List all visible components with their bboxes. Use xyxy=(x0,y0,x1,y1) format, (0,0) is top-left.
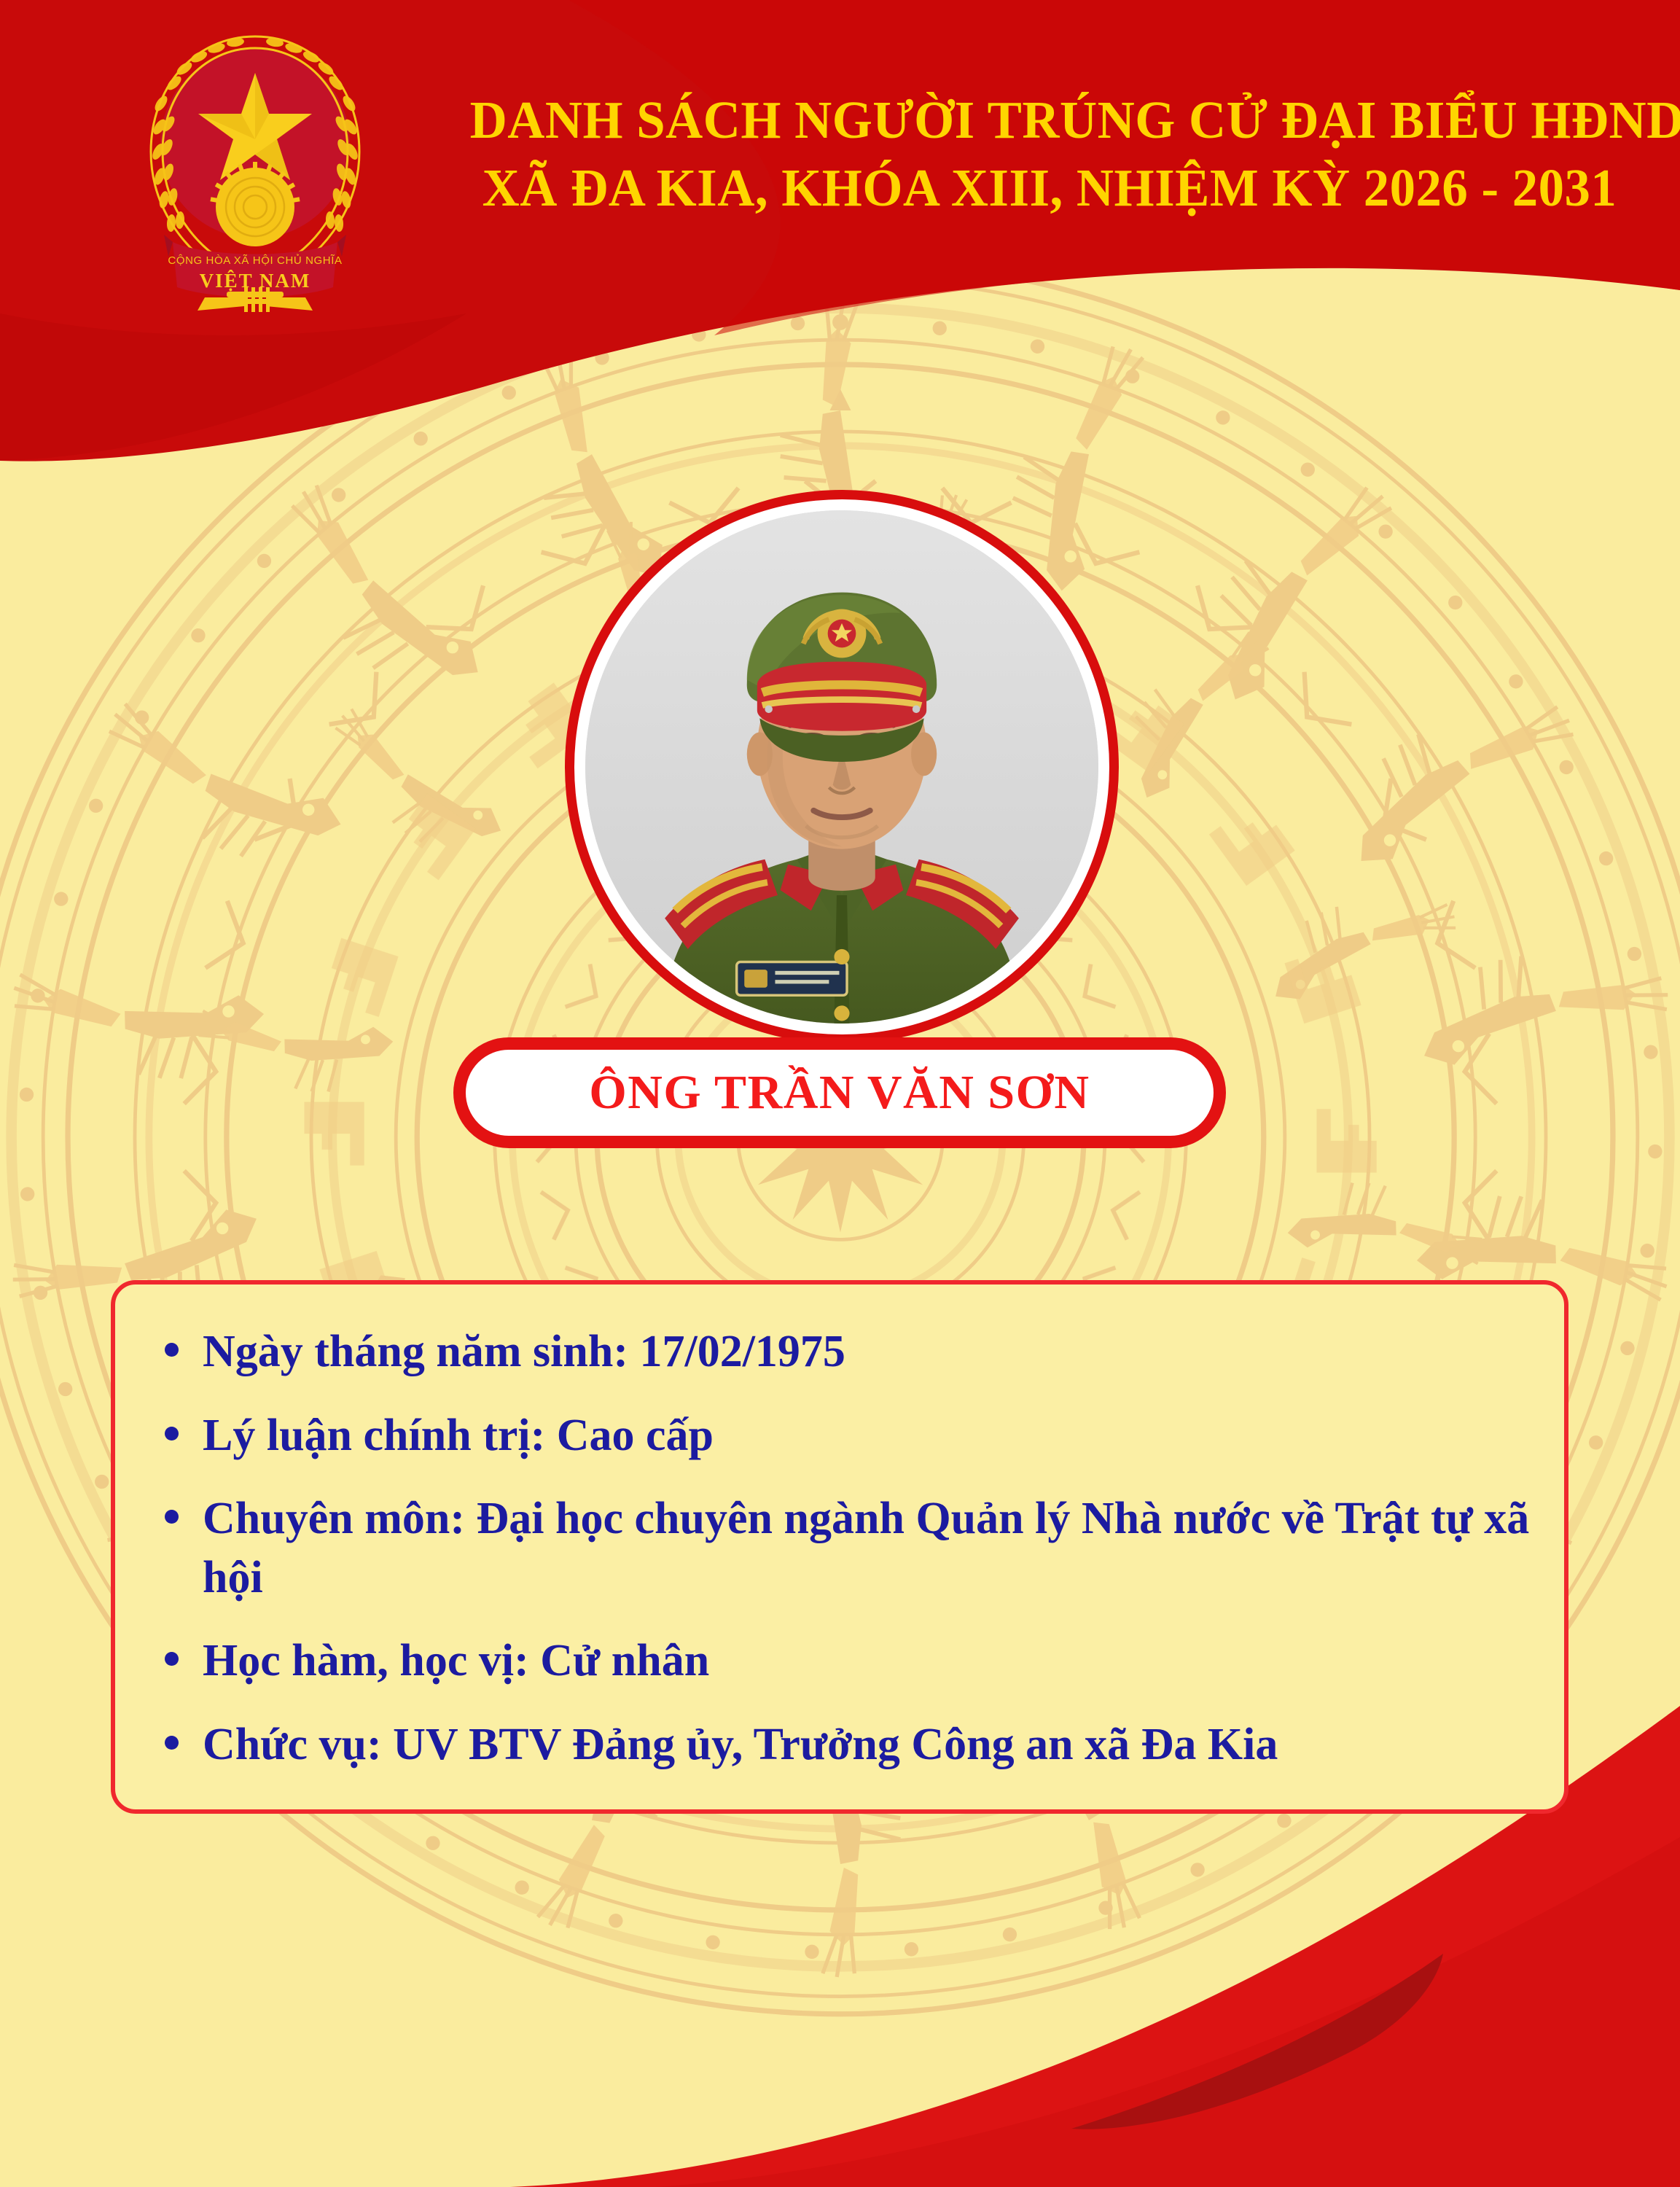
election-result-poster: CỘNG HÒA XÃ HỘI CHỦ NGHĨA VIỆT NAM DANH … xyxy=(0,0,1680,2187)
poster-header: CỘNG HÒA XÃ HỘI CHỦ NGHĨA VIỆT NAM DANH … xyxy=(0,0,1680,467)
photo-white-ring xyxy=(574,499,1109,1034)
candidate-info-card: Ngày tháng năm sinh: 17/02/1975 Lý luận … xyxy=(111,1280,1568,1814)
candidate-photo xyxy=(585,510,1098,1024)
vietnam-national-emblem-icon: CỘNG HÒA XÃ HỘI CHỦ NGHĨA VIỆT NAM xyxy=(135,16,375,322)
candidate-name-banner: ÔNG TRẦN VĂN SƠN xyxy=(453,1037,1226,1148)
list-item: Chức vụ: UV BTV Đảng ủy, Trưởng Công an … xyxy=(150,1715,1535,1774)
list-item: Học hàm, học vị: Cử nhân xyxy=(150,1632,1535,1691)
title-line-2: XÃ ĐA KIA, KHÓA XIII, NHIỆM KỲ 2026 - 20… xyxy=(470,154,1630,222)
list-item: Lý luận chính trị: Cao cấp xyxy=(150,1406,1535,1465)
candidate-detail-list: Ngày tháng năm sinh: 17/02/1975 Lý luận … xyxy=(150,1322,1535,1774)
poster-title: DANH SÁCH NGƯỜI TRÚNG CỬ ĐẠI BIỂU HĐND X… xyxy=(452,86,1647,222)
portrait-illustration xyxy=(585,510,1098,1024)
title-line-1: DANH SÁCH NGƯỜI TRÚNG CỬ ĐẠI BIỂU HĐND xyxy=(470,86,1630,154)
candidate-photo-frame xyxy=(565,490,1119,1044)
list-item: Ngày tháng năm sinh: 17/02/1975 xyxy=(150,1322,1535,1381)
candidate-name: ÔNG TRẦN VĂN SƠN xyxy=(589,1065,1090,1120)
list-item: Chuyên môn: Đại học chuyên ngành Quản lý… xyxy=(150,1489,1535,1607)
emblem-ribbon-line1: CỘNG HÒA XÃ HỘI CHỦ NGHĨA xyxy=(168,254,342,267)
